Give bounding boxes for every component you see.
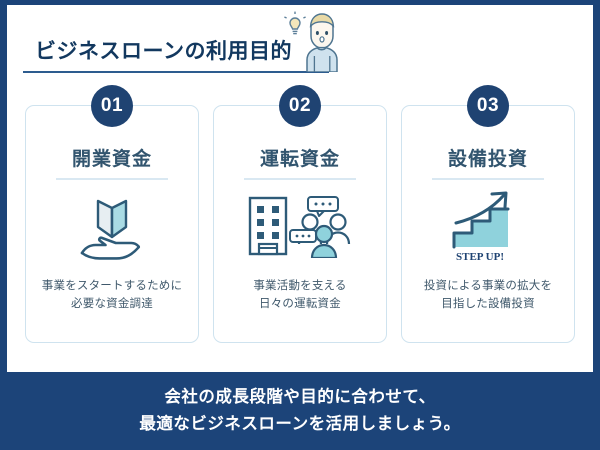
cards-row: 01 開業資金 事業をスタートするために 必要	[19, 105, 581, 343]
step-up-label: STEP UP!	[456, 251, 504, 263]
card-number-badge: 01	[91, 85, 133, 127]
footer-line-2: 最適なビジネスローンを活用しましょう。	[139, 411, 460, 438]
footer-banner: 会社の成長段階や目的に合わせて、 最適なビジネスローンを活用しましょう。	[7, 372, 593, 450]
card-divider	[432, 178, 544, 180]
card-number-badge: 03	[467, 85, 509, 127]
card-divider	[244, 178, 356, 180]
card-number-badge: 02	[279, 85, 321, 127]
content-area: ビジネスローンの利用目的	[7, 5, 593, 372]
card-startup-capital[interactable]: 01 開業資金 事業をスタートするために 必要	[25, 105, 199, 343]
card-title: 運転資金	[260, 144, 340, 171]
card-description: 投資による事業の拡大を 目指した設備投資	[424, 277, 552, 315]
header: ビジネスローンの利用目的	[19, 5, 581, 83]
page-title: ビジネスローンの利用目的	[35, 35, 292, 65]
card-description-line2: 目指した設備投資	[424, 295, 552, 314]
card-working-capital[interactable]: 02 運転資金	[213, 105, 387, 343]
card-description: 事業活動を支える 日々の運転資金	[253, 277, 346, 315]
footer-line-1: 会社の成長段階や目的に合わせて、	[164, 384, 435, 411]
card-divider	[56, 178, 168, 180]
person-with-lightbulb-icon	[281, 10, 345, 72]
infographic-root: ビジネスローンの利用目的	[0, 0, 600, 450]
card-title: 開業資金	[72, 144, 152, 171]
card-description-line1: 投資による事業の拡大を	[424, 277, 552, 296]
card-description-line1: 事業をスタートするために	[42, 277, 182, 296]
office-building-with-people-icon	[246, 189, 354, 263]
card-capital-investment[interactable]: 03 設備投資 STEP UP! 投資によ	[401, 105, 575, 343]
card-description-line2: 必要な資金調達	[42, 295, 182, 314]
card-title: 設備投資	[448, 144, 528, 171]
hand-holding-open-book-icon	[74, 189, 150, 263]
card-description: 事業をスタートするために 必要な資金調達	[42, 277, 182, 315]
stairs-growth-arrow-icon: STEP UP!	[446, 189, 530, 263]
card-description-line2: 日々の運転資金	[253, 295, 346, 314]
card-description-line1: 事業活動を支える	[253, 277, 346, 296]
